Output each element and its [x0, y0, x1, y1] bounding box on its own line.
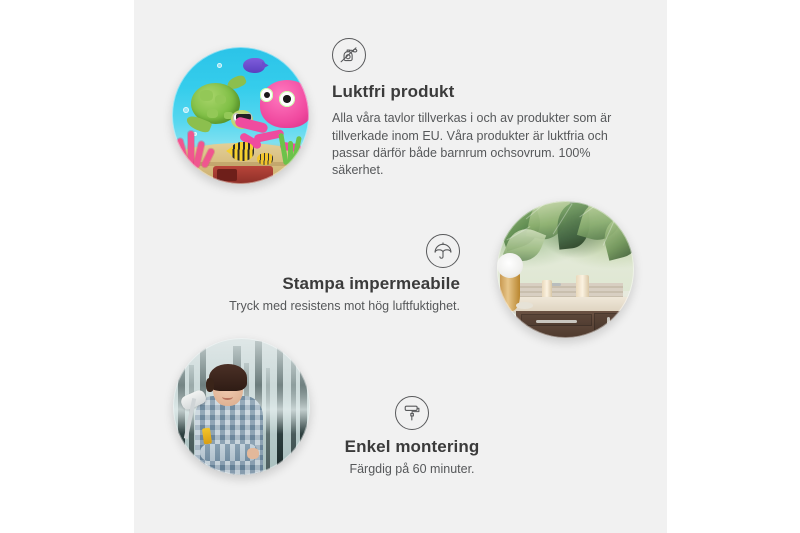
- white-flower: [497, 253, 523, 278]
- paint-roller-icon: [395, 396, 429, 430]
- feature-title: Stampa impermeabile: [190, 274, 460, 294]
- pink-coral: [177, 129, 218, 167]
- bathroom-photo: [497, 201, 634, 338]
- vanity-door: [594, 313, 627, 337]
- purple-fish: [243, 58, 265, 73]
- feature-description: Alla våra tavlor tillverkas i och av pro…: [332, 110, 624, 179]
- feature-title: Enkel montering: [312, 437, 512, 457]
- yellow-striped-fish: [230, 142, 255, 161]
- kids-underwater-illustration: [172, 47, 309, 184]
- feature-panel: Luktfri produkt Alla våra tavlor tillver…: [134, 0, 667, 533]
- wooden-vanity: [516, 311, 634, 338]
- no-fragrance-spray-icon: [332, 38, 366, 72]
- green-coral: [279, 129, 301, 165]
- feature-block-waterproof: Stampa impermeabile Tryck med resistens …: [190, 234, 460, 316]
- person-forest-photo: [173, 338, 310, 475]
- medallion-kids-underwater: [172, 47, 309, 184]
- octopus-eye: [260, 88, 274, 102]
- person-hand: [247, 448, 259, 459]
- medallion-person-with-roller: [173, 338, 310, 475]
- drawer-handle: [536, 320, 577, 323]
- feature-block-odourless: Luktfri produkt Alla våra tavlor tillver…: [332, 38, 624, 179]
- umbrella-icon: [426, 234, 460, 268]
- medallion-bathroom: [497, 201, 634, 338]
- door-handle: [607, 317, 610, 328]
- feature-description: Färgdig på 60 minuter.: [312, 461, 512, 478]
- small-yellow-fish: [257, 153, 273, 165]
- person-hair: [209, 364, 247, 391]
- foreground-red-object: [213, 166, 273, 184]
- infographic-canvas: Luktfri produkt Alla våra tavlor tillver…: [0, 0, 800, 533]
- feature-block-mounting: Enkel montering Färgdig på 60 minuter.: [312, 396, 512, 479]
- vanity-drawer: [521, 314, 592, 325]
- feature-description: Tryck med resistens mot hög luftfuktighe…: [190, 298, 460, 315]
- feature-title: Luktfri produkt: [332, 82, 624, 102]
